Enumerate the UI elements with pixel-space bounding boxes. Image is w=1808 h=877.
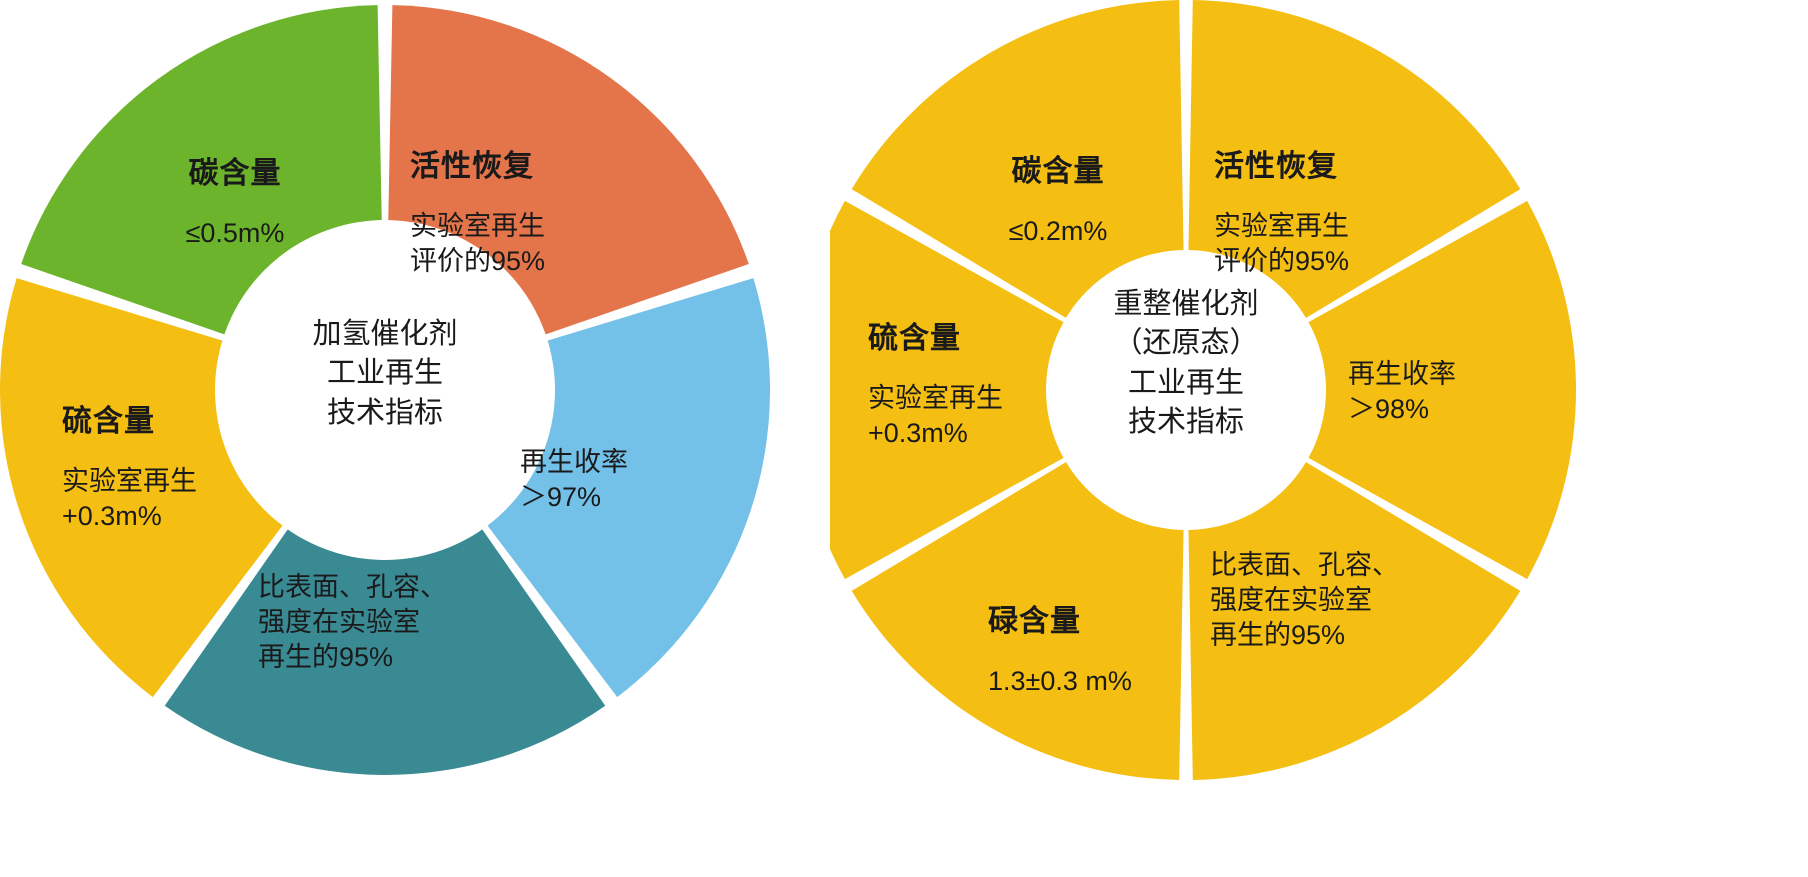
left-segment-carbon-content[interactable]: 碳含量 ≤0.5m%: [110, 135, 360, 271]
right-activity-body: 实验室再生 评价的95%: [1214, 209, 1454, 278]
right-center-text: 重整催化剂 （还原态） 工业再生 技术指标: [1046, 285, 1326, 443]
left-activity-title: 活性恢复: [410, 148, 650, 186]
hydrogenation-catalyst-donut: 活性恢复 实验室再生 评价的95% 再生收率 ＞97% 比表面、孔容、 强度在实…: [0, 0, 800, 877]
left-segment-activity-recovery[interactable]: 活性恢复 实验室再生 评价的95%: [410, 128, 650, 299]
right-segment-chlorine-content[interactable]: 碌含量 1.3±0.3 m%: [988, 583, 1268, 719]
right-chlorine-title: 碌含量: [988, 603, 1268, 641]
left-segment-surface-pore-strength[interactable]: 比表面、孔容、 强度在实验室 再生的95%: [258, 550, 548, 695]
reforming-catalyst-donut: 活性恢复 实验室再生 评价的95% 再生收率 ＞98% 比表面、孔容、 强度在实…: [830, 0, 1730, 877]
right-yield-body: 再生收率 ＞98%: [1348, 357, 1568, 426]
left-carbon-body: ≤0.5m%: [110, 216, 360, 251]
left-carbon-title: 碳含量: [110, 155, 360, 193]
left-segment-regeneration-yield[interactable]: 再生收率 ＞97%: [520, 425, 750, 535]
right-chlorine-body: 1.3±0.3 m%: [988, 664, 1268, 699]
left-activity-body: 实验室再生 评价的95%: [410, 209, 650, 278]
left-texture-body: 比表面、孔容、 强度在实验室 再生的95%: [258, 570, 548, 674]
left-yield-body: 再生收率 ＞97%: [520, 445, 750, 514]
right-carbon-body: ≤0.2m%: [938, 214, 1178, 249]
right-activity-title: 活性恢复: [1214, 148, 1454, 186]
diagram-canvas: 活性恢复 实验室再生 评价的95% 再生收率 ＞97% 比表面、孔容、 强度在实…: [0, 0, 1808, 877]
left-center-text: 加氢催化剂 工业再生 技术指标: [245, 315, 525, 433]
right-segment-carbon-content[interactable]: 碳含量 ≤0.2m%: [938, 133, 1178, 269]
right-segment-regeneration-yield[interactable]: 再生收率 ＞98%: [1348, 337, 1568, 447]
right-segment-activity-recovery[interactable]: 活性恢复 实验室再生 评价的95%: [1214, 128, 1454, 299]
left-sulfur-body: 实验室再生 +0.3m%: [62, 464, 292, 533]
right-carbon-title: 碳含量: [938, 153, 1178, 191]
